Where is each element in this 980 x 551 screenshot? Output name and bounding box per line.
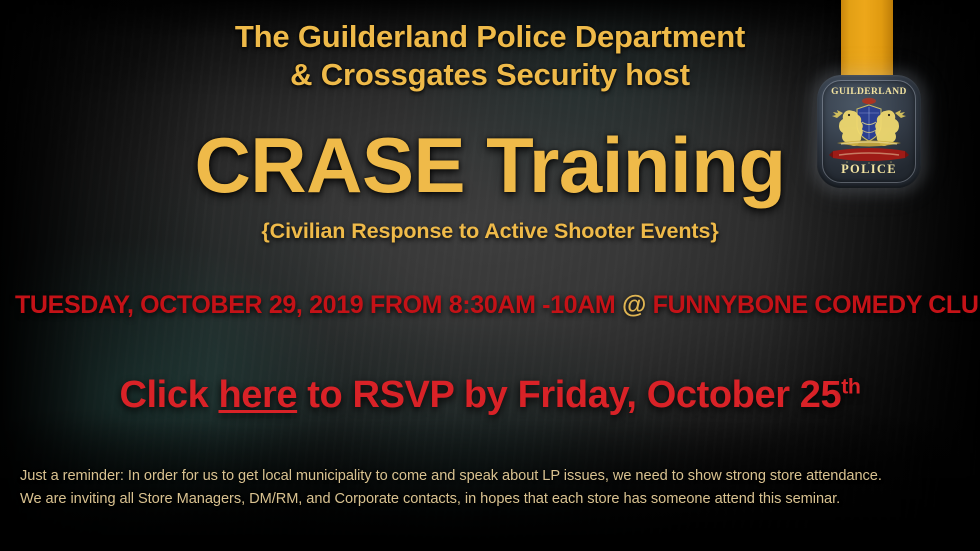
host-heading-line-1: The Guilderland Police Department bbox=[235, 19, 745, 54]
at-symbol-icon: @ bbox=[622, 291, 646, 319]
crase-training-flyer: GUILDERLAND POLICE The Guilderland Polic… bbox=[0, 0, 980, 551]
page-title: CRASE Training bbox=[0, 126, 980, 204]
event-venue-text: FUNNYBONE COMEDY CLUB bbox=[646, 291, 980, 319]
event-datetime-text: TUESDAY, OCTOBER 29, 2019 FROM 8:30AM -1… bbox=[15, 291, 622, 319]
event-datetime-venue: TUESDAY, OCTOBER 29, 2019 FROM 8:30AM -1… bbox=[15, 291, 970, 320]
host-heading: The Guilderland Police Department & Cros… bbox=[0, 18, 980, 95]
rsvp-ordinal-suffix: th bbox=[841, 374, 860, 398]
reminder-line-1: Just a reminder: In order for us to get … bbox=[20, 468, 882, 484]
rsvp-prefix-text: Click bbox=[119, 374, 218, 416]
host-heading-line-2: & Crossgates Security host bbox=[0, 56, 980, 94]
page-subtitle: {Civilian Response to Active Shooter Eve… bbox=[0, 219, 980, 244]
rsvp-call-to-action: Click here to RSVP by Friday, October 25… bbox=[0, 374, 980, 417]
reminder-note: Just a reminder: In order for us to get … bbox=[20, 465, 964, 511]
reminder-line-2: We are inviting all Store Managers, DM/R… bbox=[20, 488, 964, 511]
rsvp-deadline-text: to RSVP by Friday, October 25 bbox=[297, 374, 841, 416]
rsvp-here-link[interactable]: here bbox=[218, 374, 297, 416]
